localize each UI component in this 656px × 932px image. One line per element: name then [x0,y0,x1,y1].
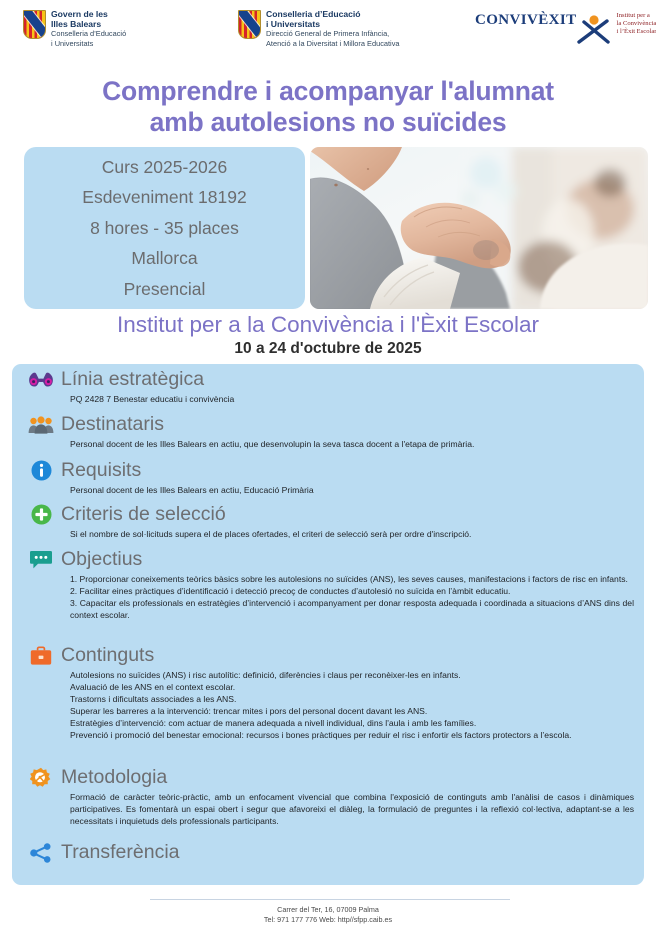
section-body: Autolesions no suïcides (ANS) i risc aut… [70,669,634,741]
content-panel: Línia estratègica PQ 2428 7 Benestar edu… [12,364,644,885]
institute-title: Institut per a la Convivència i l'Èxit E… [0,313,656,338]
header-logo-bar: Govern de les Illes Balears Conselleria … [0,0,656,66]
section-metodologia: Metodologia Formació de caràcter teòric-… [26,766,634,827]
section-header: Línia estratègica [26,368,634,391]
footer-address: Carrer del Ter, 16, 07009 Palma [0,905,656,915]
balearic-shield-icon [23,10,46,39]
section-paragraph: Formació de caràcter teòric-pràctic, amb… [70,791,634,827]
info-event: Esdeveniment 18192 [82,183,246,211]
section-body: Personal docent de les Illes Balears en … [70,484,634,496]
section-header: Destinataris [26,413,634,436]
section-linia-estrategica: Línia estratègica PQ 2428 7 Benestar edu… [26,368,634,405]
footer: Carrer del Ter, 16, 07009 Palma Tel: 971… [0,905,656,925]
logo-conselleria-educacio: Conselleria d’Educació i Universitats Di… [238,10,400,48]
logo-govern-line2: Illes Balears [51,20,126,30]
gear-icon [26,766,56,789]
logo-conselleria-line2: i Universitats [266,20,400,30]
balearic-shield-icon [238,10,261,39]
section-title: Requisits [61,461,141,481]
course-dates: 10 a 24 d'octubre de 2025 [0,340,656,358]
section-objectius: Objectius 1. Proporcionar coneixements t… [26,548,634,621]
logo-convivexit: CONVI VÈXIT Institut per a la Convivènci… [475,12,656,46]
section-criteris-de-seleccio: Criteris de selecció Si el nombre de sol… [26,503,634,540]
convivexit-person-x-icon [577,12,611,46]
logo-conselleria-sub2: Atenció a la Diversitat i Millora Educat… [266,40,400,48]
briefcase-icon [26,644,56,667]
section-body: Formació de caràcter teòric-pràctic, amb… [70,791,634,827]
section-paragraph: Avaluació de les ANS en el context escol… [70,681,634,693]
info-location: Mallorca [131,244,197,272]
section-destinataris: Destinataris Personal docent de les Ille… [26,413,634,450]
info-course: Curs 2025-2026 [102,153,228,181]
course-photo [310,147,648,309]
convivexit-wordmark: CONVI VÈXIT [475,12,577,29]
logo-govern-sub1: Conselleria d’Educació [51,30,126,38]
logo-govern-illes-balears: Govern de les Illes Balears Conselleria … [23,10,126,48]
people-group-icon [26,413,56,436]
logo-govern-sub2: i Universitats [51,40,126,48]
section-paragraph: 3. Capacitar els professionals en estrat… [70,597,634,621]
section-title: Línia estratègica [61,370,204,390]
plus-circle-icon [26,503,56,526]
section-transferencia: Transferència [26,841,634,864]
page-title-line1: Comprendre i acompanyar l'alumnat [28,76,628,107]
logo-conselleria-text: Conselleria d’Educació i Universitats Di… [266,10,400,48]
section-paragraph: Prevenció i promoció del benestar emocio… [70,729,634,741]
page-title: Comprendre i acompanyar l'alumnat amb au… [28,76,628,137]
footer-divider [150,899,510,900]
section-paragraph: Personal docent de les Illes Balears en … [70,484,634,496]
course-info-box: Curs 2025-2026 Esdeveniment 18192 8 hore… [24,147,305,309]
section-title: Objectius [61,550,142,570]
info-modality: Presencial [124,275,206,303]
speech-bubble-icon [26,548,56,571]
section-body: Si el nombre de sol·licituds supera el d… [70,528,634,540]
section-body: PQ 2428 7 Benestar educatiu i convivènci… [70,393,634,405]
section-header: Criteris de selecció [26,503,634,526]
convivexit-inst-line3: i l’Èxit Escolar [617,28,656,36]
page-title-line2: amb autolesions no suïcides [28,107,628,138]
section-paragraph: Estratègies d’intervenció: com actuar de… [70,717,634,729]
convivexit-inst-line1: Institut per a [617,12,656,20]
share-icon [26,841,56,864]
section-header: Objectius [26,548,634,571]
convivexit-institute-text: Institut per a la Convivència i l’Èxit E… [617,12,656,37]
section-paragraph: Si el nombre de sol·licituds supera el d… [70,528,634,540]
section-body: Personal docent de les Illes Balears en … [70,438,634,450]
info-hours-places: 8 hores - 35 places [90,214,239,242]
footer-contact: Tel: 971 177 776 Web: http//sfpp.caib.es [0,915,656,925]
section-title: Transferència [61,843,180,863]
convivexit-word-red: VÈXIT [527,12,577,29]
section-paragraph: Personal docent de les Illes Balears en … [70,438,634,450]
section-header: Metodologia [26,766,634,789]
section-requisits: Requisits Personal docent de les Illes B… [26,459,634,496]
section-title: Criteris de selecció [61,505,226,525]
logo-conselleria-sub1: Direcció General de Primera Infància, [266,30,400,38]
section-title: Metodologia [61,768,167,788]
logo-govern-text: Govern de les Illes Balears Conselleria … [51,10,126,48]
section-paragraph: 1. Proporcionar coneixements teòrics bàs… [70,573,634,585]
info-circle-icon [26,459,56,482]
section-title: Continguts [61,646,154,666]
convivexit-word-dark: CONVI [475,12,527,29]
section-continguts: Continguts Autolesions no suïcides (ANS)… [26,644,634,741]
section-paragraph: Superar les barreres a la intervenció: t… [70,705,634,717]
section-paragraph: PQ 2428 7 Benestar educatiu i convivènci… [70,393,634,405]
section-header: Continguts [26,644,634,667]
section-paragraph: Trastorns i dificultats associades a les… [70,693,634,705]
section-paragraph: Autolesions no suïcides (ANS) i risc aut… [70,669,634,681]
section-header: Requisits [26,459,634,482]
section-body: 1. Proporcionar coneixements teòrics bàs… [70,573,634,621]
section-paragraph: 2. Facilitar eines pràctiques d’identifi… [70,585,634,597]
binoculars-icon [26,368,56,391]
section-header: Transferència [26,841,634,864]
section-title: Destinataris [61,415,164,435]
